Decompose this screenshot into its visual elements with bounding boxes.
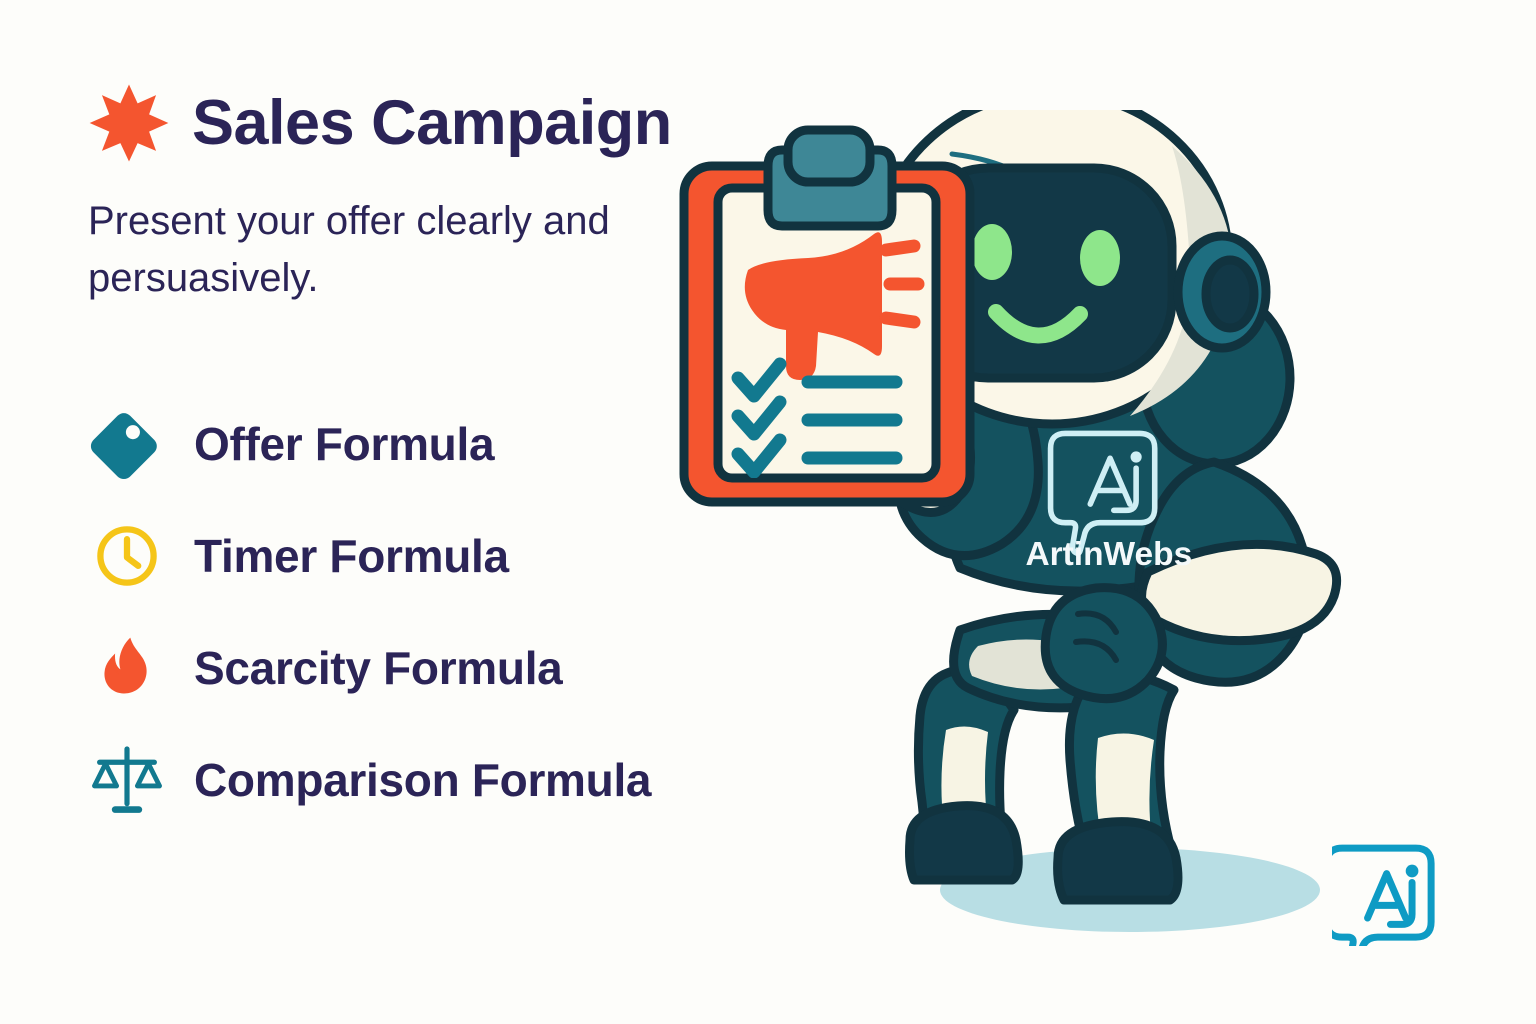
balance-scales-icon [88,741,166,819]
list-item[interactable]: Comparison Formula [88,724,651,836]
checklist [738,364,896,472]
clipboard [684,130,970,502]
flame-icon [88,629,166,707]
header: Sales Campaign [88,82,672,164]
list-item[interactable]: Timer Formula [88,500,651,612]
slide-canvas: Sales Campaign Present your offer clearl… [0,0,1536,1024]
brand-logo[interactable] [1332,838,1440,946]
feature-list: Offer Formula Timer Formula Scarcity For… [88,388,651,836]
list-item-label: Offer Formula [194,417,494,471]
list-item-label: Timer Formula [194,529,509,583]
robot-boot-front [1058,822,1178,900]
list-item-label: Scarcity Formula [194,641,562,695]
robot-boot-back [910,806,1019,880]
ai-logo-dot [1406,865,1419,878]
ai-logo-icon [1332,848,1431,946]
robot-eye-right [1080,230,1120,286]
robot-eye-left [972,224,1012,280]
list-item-label: Comparison Formula [194,753,651,807]
price-tag-icon [88,405,166,483]
list-item[interactable]: Scarcity Formula [88,612,651,724]
list-item[interactable]: Offer Formula [88,388,651,500]
page-title: Sales Campaign [192,92,672,155]
chest-logo-text: ArtinWebs [1025,536,1192,573]
clock-icon [88,517,166,595]
eight-point-star-icon [88,82,170,164]
clipboard-clip [788,130,870,182]
